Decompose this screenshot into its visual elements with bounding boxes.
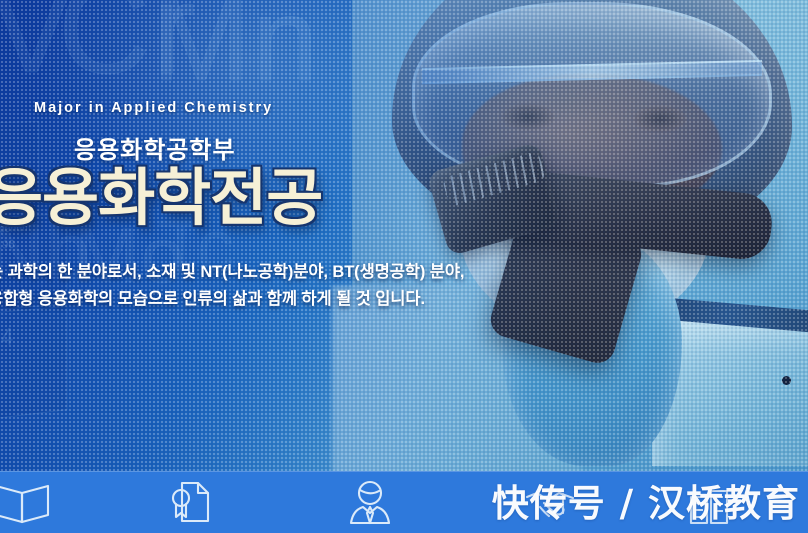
- hero-body-line-2: 융합형 응용화학의 모습으로 인류의 삶과 함께 하게 될 것 입니다.: [0, 285, 425, 309]
- nav-item-certificate[interactable]: [166, 479, 214, 525]
- hero-banner: Actinium 9415 41 42 Niobium 92.9063 Moly…: [0, 0, 808, 533]
- hero-eyebrow: Major in Applied Chemistry: [34, 100, 273, 116]
- graduate-person-icon: [345, 479, 395, 525]
- page-title: 응용화학전공: [0, 166, 322, 231]
- certificate-doc-icon: [166, 479, 214, 525]
- hero-body-line-1: 는 과학의 한 분야로서, 소재 및 NT(나노공학)분야, BT(생명공학) …: [0, 258, 464, 282]
- hero-subtitle: 응용화학공학부: [74, 130, 236, 165]
- watermark-text: 快传号 / 汉桥教育: [492, 473, 800, 527]
- open-book-icon: [0, 481, 60, 525]
- nav-item-person[interactable]: [345, 479, 395, 525]
- nav-item-open-book[interactable]: [0, 481, 60, 525]
